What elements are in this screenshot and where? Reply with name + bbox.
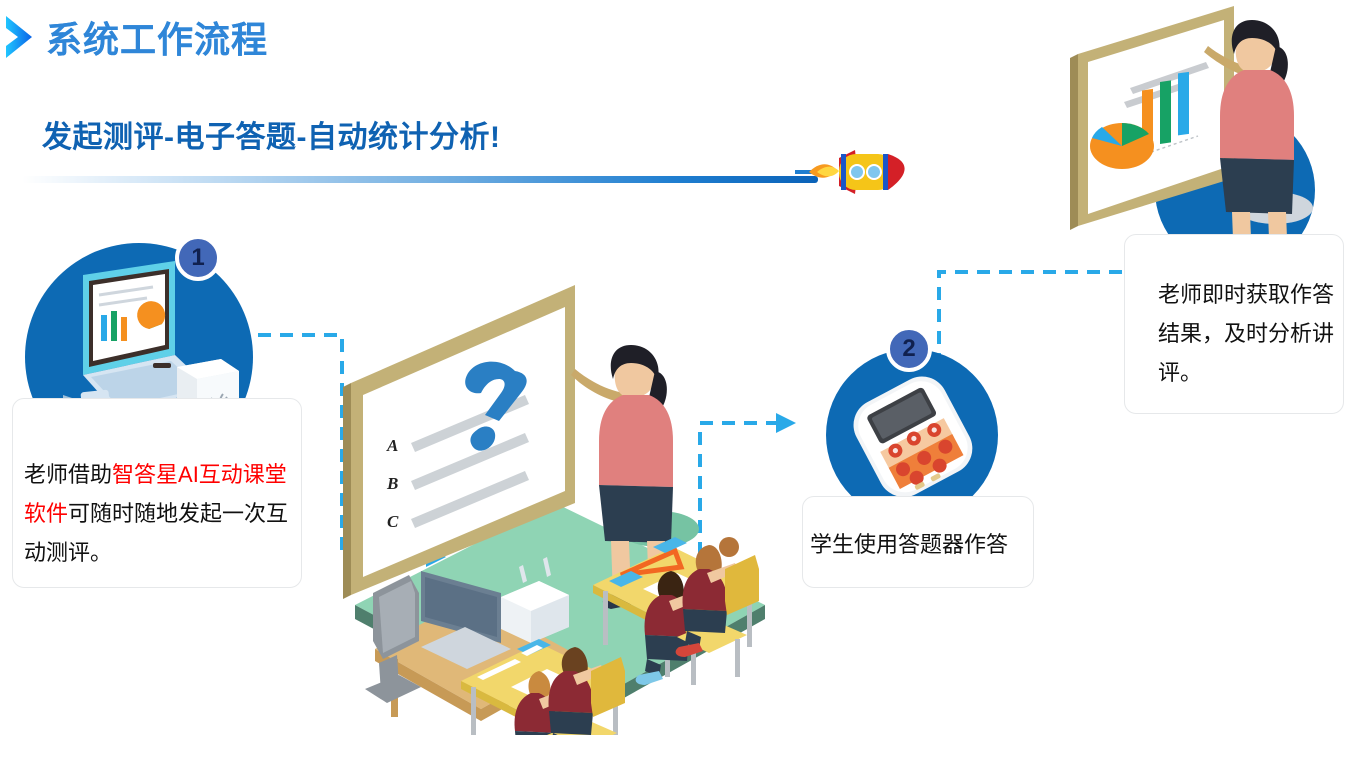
step-2-text: 学生使用答题器作答 [810, 525, 1046, 564]
page-header: 系统工作流程 [0, 8, 268, 66]
step-3-text: 老师即时获取作答结果，及时分析讲评。 [1158, 275, 1342, 392]
board-option-a: A [386, 436, 398, 455]
rocket-icon [795, 140, 913, 198]
step-1-text: 老师借助智答星AI互动课堂软件可随时随地发起一次互动测评。 [24, 455, 300, 572]
board-option-c: C [387, 512, 399, 531]
chevron-right-gradient-icon [2, 14, 36, 60]
classroom-isometric-icon: A B C [325, 275, 805, 735]
step-2-badge: 2 [886, 326, 932, 372]
step-1-badge: 1 [175, 235, 221, 281]
subtitle-underline [22, 176, 818, 183]
board-option-b: B [386, 474, 398, 493]
subtitle: 发起测评-电子答题-自动统计分析! [42, 112, 500, 156]
teacher-whiteboard-charts-icon [1060, 0, 1350, 250]
step-1-text-part-1: 老师借助 [24, 462, 112, 487]
page-title: 系统工作流程 [46, 11, 268, 63]
slide-canvas: 系统工作流程 发起测评-电子答题-自动统计分析! [0, 0, 1350, 765]
